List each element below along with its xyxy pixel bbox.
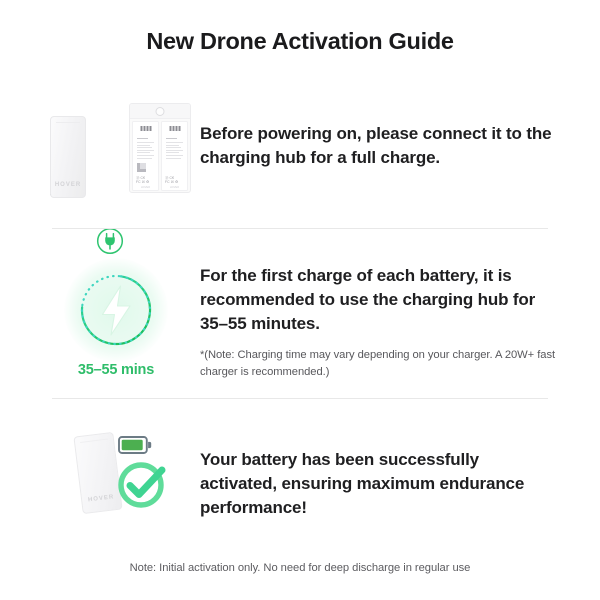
section-2-headline: For the first charge of each battery, it… [200, 258, 560, 336]
section-connect-charger: HOVER [0, 88, 600, 208]
lightning-bolt-icon [103, 286, 131, 335]
section-2-copy: For the first charge of each battery, it… [200, 258, 600, 381]
hub-cell: Ⓤ C€ FC ☒ ♻ HOVER [132, 121, 159, 191]
hub-battery-slots: Ⓤ C€ FC ☒ ♻ HOVER [130, 119, 190, 193]
footer-note: Note: Initial activation only. No need f… [0, 562, 600, 574]
cell-brand-label: HOVER [162, 186, 187, 189]
plug-icon [96, 227, 124, 255]
cell-spec-text [166, 138, 183, 160]
cell-contacts [140, 126, 151, 131]
cell-certification-marks: Ⓤ C€ FC ☒ ♻ [165, 176, 184, 185]
cell-spec-text [137, 138, 154, 160]
hub-cell: Ⓤ C€ FC ☒ ♻ HOVER [161, 121, 188, 191]
cell-brand-label: HOVER [133, 186, 158, 189]
page-title: New Drone Activation Guide [0, 28, 600, 55]
charge-time-label: 35–55 mins [40, 362, 192, 378]
check-circle-icon [114, 454, 172, 512]
section-2-subnote: *(Note: Charging time may vary depending… [200, 347, 560, 380]
section-divider [52, 398, 548, 399]
ring-svg [64, 258, 168, 362]
section-3-headline: Your battery has been successfully activ… [200, 428, 560, 520]
section-3-illustration: HOVER [0, 428, 200, 538]
cell-certification-marks: Ⓤ C€ FC ☒ ♻ [136, 176, 155, 185]
section-activation-complete: HOVER Your battery has been successfully… [0, 428, 600, 538]
charging-hub: Ⓤ C€ FC ☒ ♻ HOVER [129, 103, 191, 193]
section-1-illustration: HOVER [0, 88, 200, 208]
section-2-illustration: 35–55 mins [0, 258, 200, 386]
hub-led-indicator [156, 107, 165, 116]
section-3-copy: Your battery has been successfully activ… [200, 428, 600, 520]
guide-page: New Drone Activation Guide HOVER [0, 0, 600, 600]
cell-contacts [169, 126, 180, 131]
charging-progress-ring [64, 258, 168, 362]
check-mark [130, 470, 162, 495]
battery-pack-label: HOVER [51, 182, 85, 188]
section-1-copy: Before powering on, please connect it to… [200, 88, 600, 170]
battery-pack: HOVER [50, 116, 86, 198]
hub-top-panel [130, 104, 190, 119]
section-divider [52, 228, 548, 229]
cell-qr-code [137, 163, 146, 172]
section-first-charge: 35–55 mins For the first charge of each … [0, 258, 600, 386]
battery-full-icon [118, 436, 152, 454]
section-1-headline: Before powering on, please connect it to… [200, 88, 560, 170]
